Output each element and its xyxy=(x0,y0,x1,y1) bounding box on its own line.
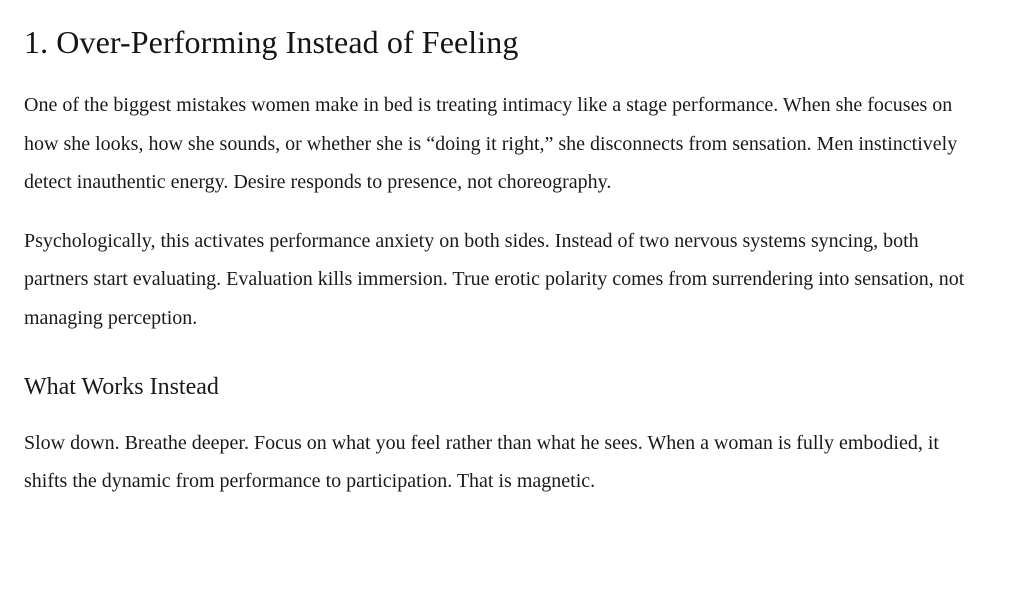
document-page: 1. Over-Performing Instead of Feeling On… xyxy=(0,0,1024,612)
paragraph-intro: One of the biggest mistakes women make i… xyxy=(24,62,978,202)
paragraph-analysis: Psychologically, this activates performa… xyxy=(24,202,978,338)
section-subtitle: What Works Instead xyxy=(24,338,978,403)
paragraph-advice: Slow down. Breathe deeper. Focus on what… xyxy=(24,403,978,501)
page-title: 1. Over-Performing Instead of Feeling xyxy=(24,0,978,62)
